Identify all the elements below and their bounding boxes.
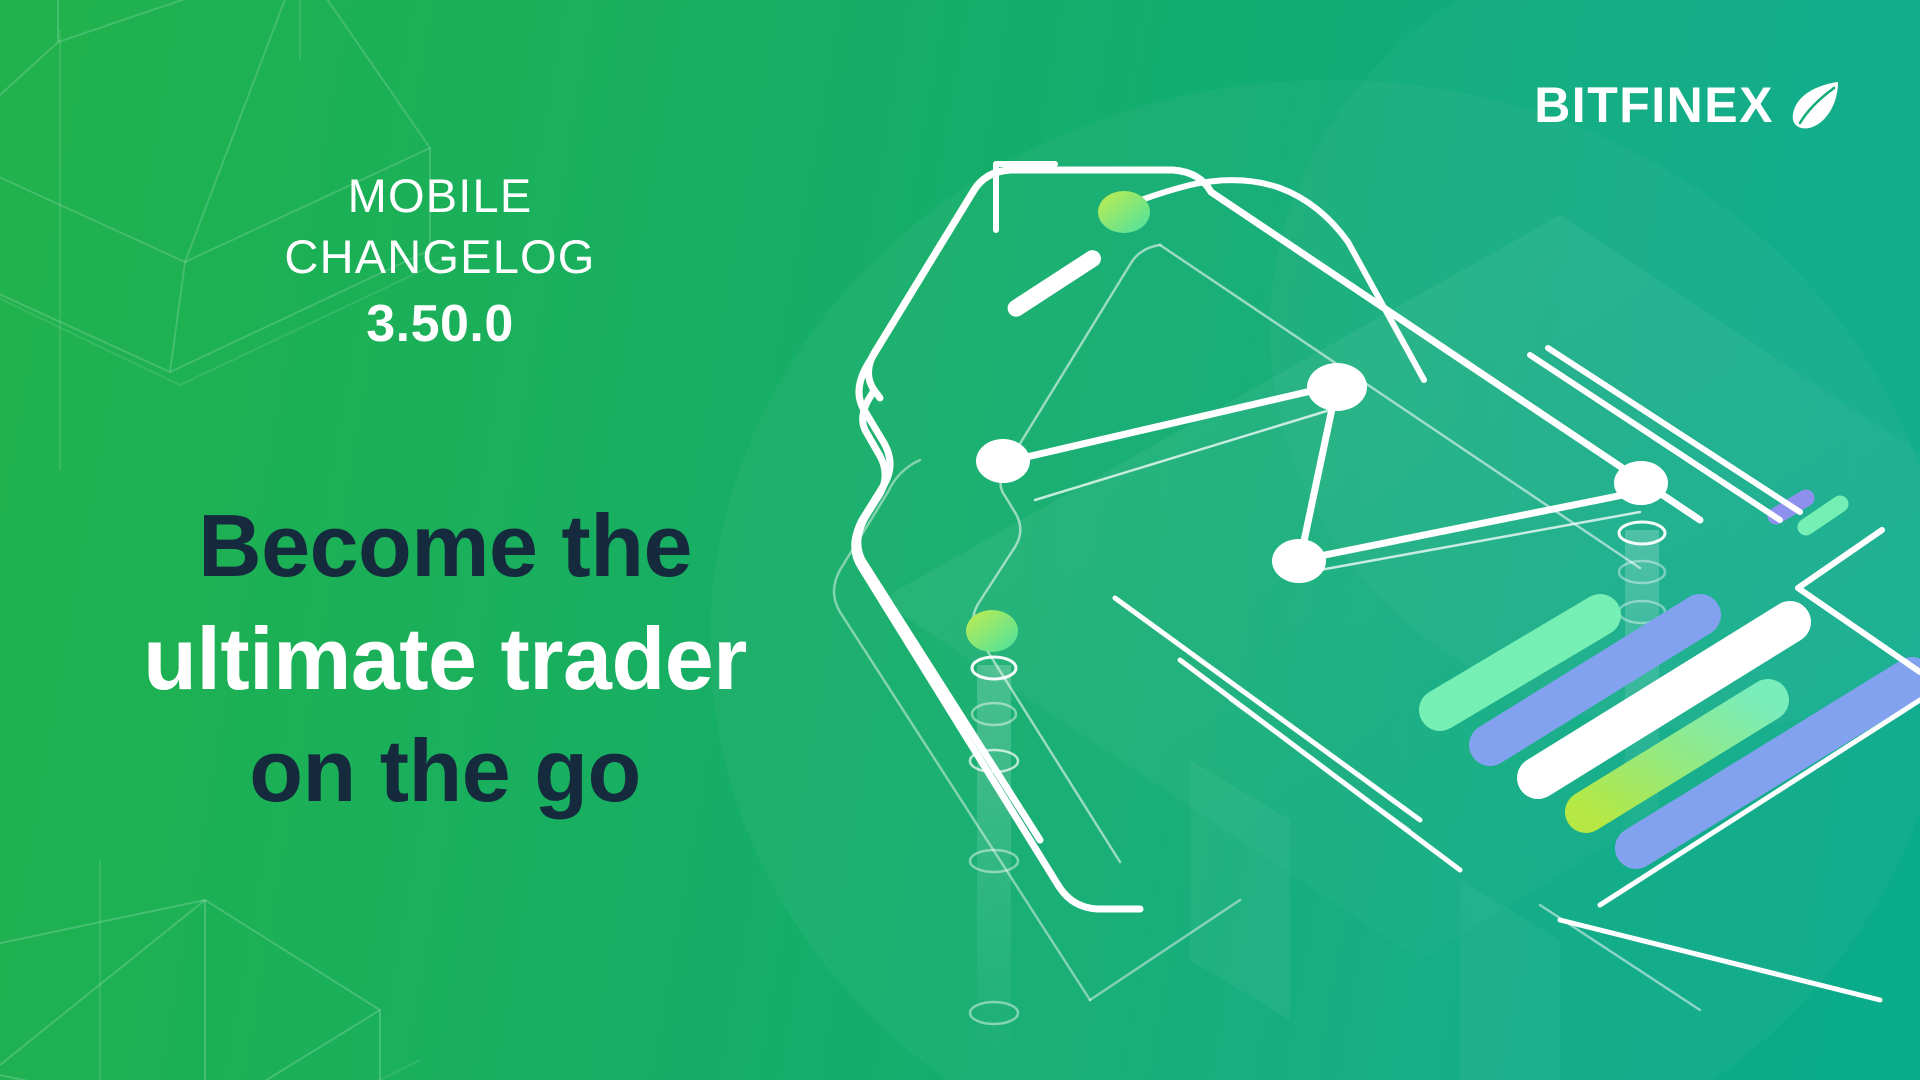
headline-line-3: on the go <box>110 715 780 828</box>
headline: Become the ultimate trader on the go <box>110 490 780 828</box>
eyebrow-line-2: CHANGELOG <box>284 230 595 283</box>
chart-node-3 <box>1272 539 1326 583</box>
phone-camera-dot <box>1076 259 1090 273</box>
eyebrow-text: MOBILE CHANGELOG 3.50.0 <box>120 165 760 359</box>
phone-speaker <box>1004 247 1104 320</box>
leaf-icon <box>1788 78 1842 132</box>
version-number: 3.50.0 <box>120 291 760 359</box>
chart-node-2 <box>1307 363 1367 411</box>
headline-line-2: ultimate trader <box>110 603 780 716</box>
eyebrow-line-1: MOBILE <box>348 169 533 222</box>
changelog-banner: MOBILE CHANGELOG 3.50.0 Become the ultim… <box>0 0 1920 1080</box>
bitfinex-wordmark: BITFINEX <box>1534 80 1774 130</box>
chart-node-glow-left <box>966 610 1018 652</box>
chart-node-glow-top <box>1098 191 1150 233</box>
headline-line-1: Become the <box>110 490 780 603</box>
chart-node-4 <box>1614 461 1668 505</box>
chart-node-1 <box>976 439 1030 483</box>
bitfinex-logo: BITFINEX <box>1534 78 1842 132</box>
